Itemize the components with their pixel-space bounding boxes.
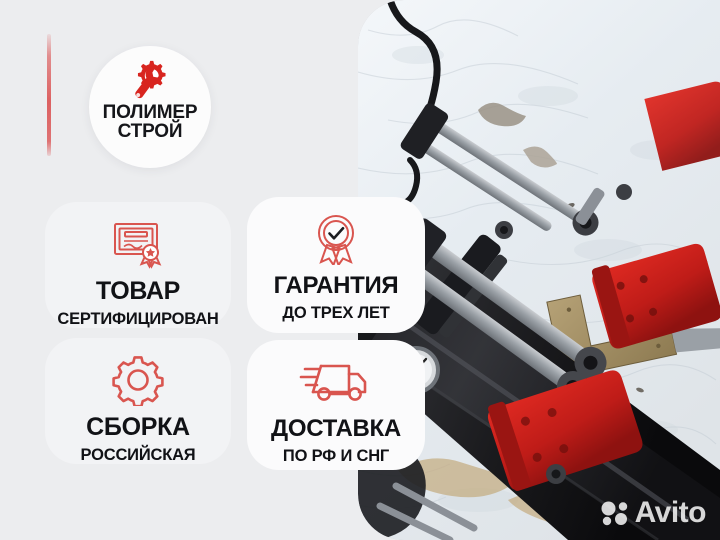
feature-card-sborka[interactable]: СБОРКА РОССИЙСКАЯ — [45, 338, 231, 464]
promo-canvas: ПОЛИМЕР СТРОЙ ТО — [0, 0, 720, 540]
brand-wordmark: ПОЛИМЕР СТРОЙ — [103, 103, 198, 142]
feature-card-dostavka[interactable]: ДОСТАВКА ПО РФ И СНГ — [247, 340, 425, 470]
feature-subtitle: ПО РФ И СНГ — [283, 448, 389, 465]
feature-card-tovar[interactable]: ТОВАР СЕРТИФИЦИРОВАН — [45, 202, 231, 328]
brand-logo-badge: ПОЛИМЕР СТРОЙ — [89, 46, 211, 168]
gear-wrench-icon — [128, 58, 172, 100]
feature-title: ТОВАР — [96, 279, 180, 304]
award-ribbon-check-icon — [310, 213, 362, 265]
feature-title: ДОСТАВКА — [271, 417, 401, 441]
feature-title: ГАРАНТИЯ — [274, 274, 399, 298]
feature-subtitle: РОССИЙСКАЯ — [81, 447, 196, 464]
gear-icon — [112, 354, 164, 406]
feature-subtitle: ДО ТРЕХ ЛЕТ — [282, 305, 389, 322]
feature-title: СБОРКА — [86, 415, 190, 440]
feature-subtitle: СЕРТИФИЦИРОВАН — [57, 311, 218, 328]
brand-line-1: ПОЛИМЕР — [103, 103, 198, 122]
delivery-truck-icon — [299, 356, 373, 408]
certificate-icon — [110, 218, 166, 270]
accent-line — [47, 34, 51, 156]
brand-line-2: СТРОЙ — [103, 122, 198, 141]
feature-card-garantia[interactable]: ГАРАНТИЯ ДО ТРЕХ ЛЕТ — [247, 197, 425, 333]
